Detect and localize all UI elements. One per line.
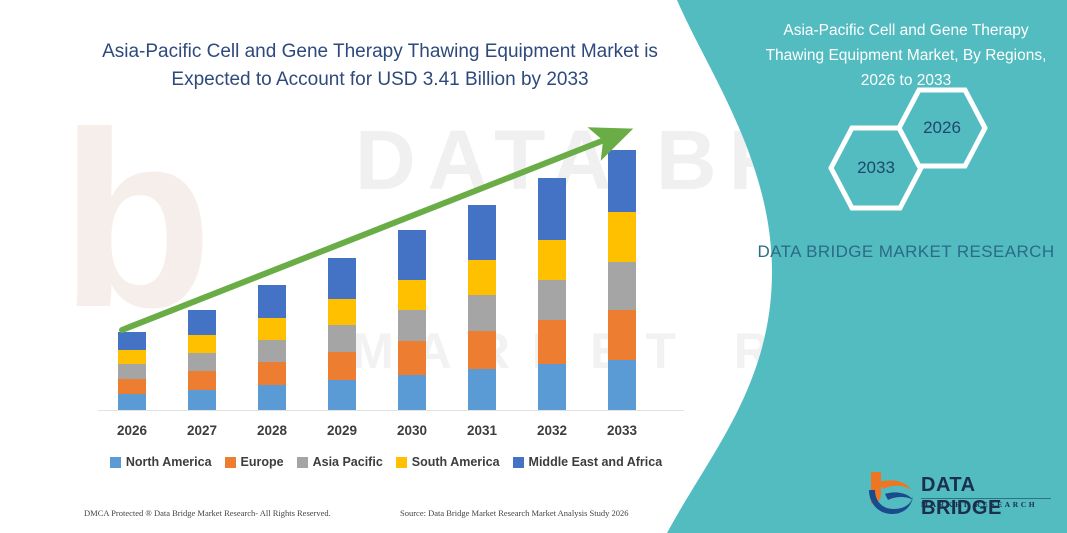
teal-panel-content: Asia-Pacific Cell and Gene Therapy Thawi… bbox=[745, 0, 1067, 533]
legend-swatch-icon bbox=[396, 457, 407, 468]
infographic-root: b DATA BRIDGE MARKET RESEARCH Asia-Pacif… bbox=[0, 0, 1067, 533]
footer-source: Source: Data Bridge Market Research Mark… bbox=[400, 508, 629, 518]
logo-mark-icon bbox=[863, 470, 915, 516]
panel-brand-text: DATA BRIDGE MARKET RESEARCH bbox=[755, 238, 1057, 265]
legend-swatch-icon bbox=[297, 457, 308, 468]
legend-label: Europe bbox=[241, 455, 284, 469]
panel-title: Asia-Pacific Cell and Gene Therapy Thawi… bbox=[755, 18, 1057, 93]
legend-label: South America bbox=[412, 455, 500, 469]
legend-item-europe[interactable]: Europe bbox=[225, 455, 284, 469]
legend-swatch-icon bbox=[110, 457, 121, 468]
logo-name: DATA BRIDGE bbox=[921, 474, 1053, 520]
hexagon-2026-label: 2026 bbox=[896, 118, 988, 138]
legend-label: Middle East and Africa bbox=[529, 455, 663, 469]
chart-legend: North AmericaEuropeAsia PacificSouth Ame… bbox=[96, 455, 676, 469]
hexagon-group: 2033 2026 bbox=[745, 95, 1067, 200]
logo-subtitle: MARKET RESEARCH bbox=[921, 500, 1037, 509]
legend-item-middle-east-and-africa[interactable]: Middle East and Africa bbox=[513, 455, 663, 469]
chart-plot-area: 20262027202820292030203120322033 bbox=[0, 0, 700, 533]
hexagon-2026: 2026 bbox=[896, 87, 988, 169]
legend-label: Asia Pacific bbox=[313, 455, 383, 469]
legend-item-north-america[interactable]: North America bbox=[110, 455, 212, 469]
logo: DATA BRIDGE MARKET RESEARCH bbox=[863, 470, 1053, 518]
legend-label: North America bbox=[126, 455, 212, 469]
legend-swatch-icon bbox=[225, 457, 236, 468]
trend-arrow bbox=[0, 0, 700, 460]
footer-copyright: DMCA Protected ® Data Bridge Market Rese… bbox=[84, 508, 331, 518]
logo-divider bbox=[921, 498, 1051, 499]
legend-item-south-america[interactable]: South America bbox=[396, 455, 500, 469]
legend-item-asia-pacific[interactable]: Asia Pacific bbox=[297, 455, 383, 469]
legend-swatch-icon bbox=[513, 457, 524, 468]
